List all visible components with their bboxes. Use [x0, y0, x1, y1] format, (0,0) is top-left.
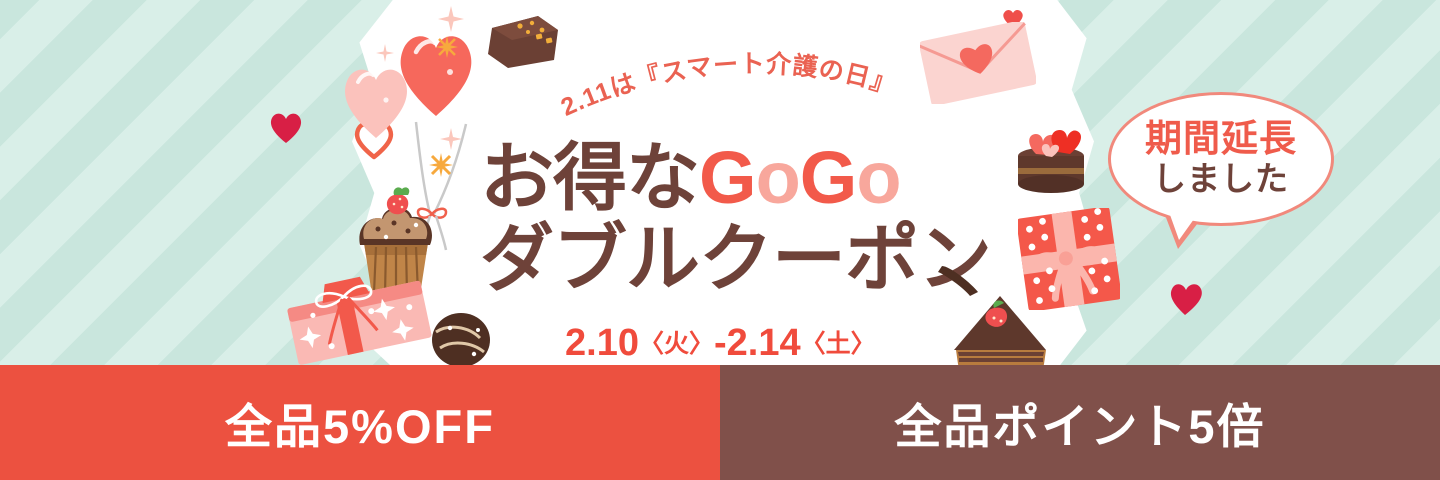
- date-end: 2.14: [727, 322, 801, 364]
- bubble-line-1: 期間延長: [1145, 120, 1297, 159]
- tagline-curved-text: 2.11は『スマート介護の日』: [540, 48, 920, 140]
- chocolate-truffle-icon: [430, 310, 492, 368]
- headline-line-2: ダブルクーポン: [480, 221, 1000, 296]
- headline-go1-g: G: [699, 136, 756, 219]
- promo-bar-discount-label: 全品5%OFF: [225, 388, 495, 457]
- heart-crimson-left-icon: [268, 110, 304, 144]
- date-start-weekday: 〈火〉: [639, 330, 714, 358]
- promo-bar-points-label: 全品ポイント5倍: [894, 388, 1265, 457]
- chocolate-stick-icon: [938, 262, 982, 296]
- sparkle-star-icon: [376, 44, 394, 62]
- speech-bubble-extension: 期間延長 しました: [1108, 92, 1334, 226]
- speech-bubble-tail-inner: [1169, 212, 1199, 240]
- date-end-weekday: 〈土〉: [801, 330, 876, 358]
- sparkle-star-icon: [438, 6, 464, 32]
- promo-bar-points[interactable]: 全品ポイント5倍: [720, 365, 1440, 480]
- gift-box-pink-icon: [282, 262, 434, 370]
- headline-block: お得なGoGo ダブルクーポン: [480, 140, 1000, 297]
- promo-bar-discount[interactable]: 全品5%OFF: [0, 365, 720, 480]
- date-start: 2.10: [565, 322, 639, 364]
- sparkle-star-icon: [436, 36, 458, 58]
- heart-crimson-right-icon: [1168, 280, 1204, 316]
- cake-slice-strawberry-icon: [950, 292, 1052, 374]
- headline-line-1: お得なGoGo: [480, 140, 1000, 215]
- sparkle-star-icon: [440, 128, 462, 150]
- date-separator: -: [714, 322, 727, 364]
- headline-go2-g: G: [800, 136, 857, 219]
- bubble-line-2: しました: [1153, 161, 1289, 197]
- promo-banner: 2.11は『スマート介護の日』 お得なGoGo ダブルクーポン 2.10〈火〉-…: [0, 0, 1440, 480]
- date-range: 2.10〈火〉-2.14〈土〉: [565, 322, 876, 365]
- chocolate-block-icon: [486, 14, 560, 70]
- headline-go2-o: o: [856, 136, 900, 219]
- tagline-label: 2.11は『スマート介護の日』: [557, 50, 900, 122]
- sparkle-star-icon: [428, 152, 454, 178]
- headline-jp-prefix: お得な: [480, 136, 699, 219]
- headline-go1-o: o: [756, 136, 800, 219]
- envelope-heart-icon: [920, 22, 1036, 104]
- chocolate-cake-hearts-icon: [1008, 108, 1094, 194]
